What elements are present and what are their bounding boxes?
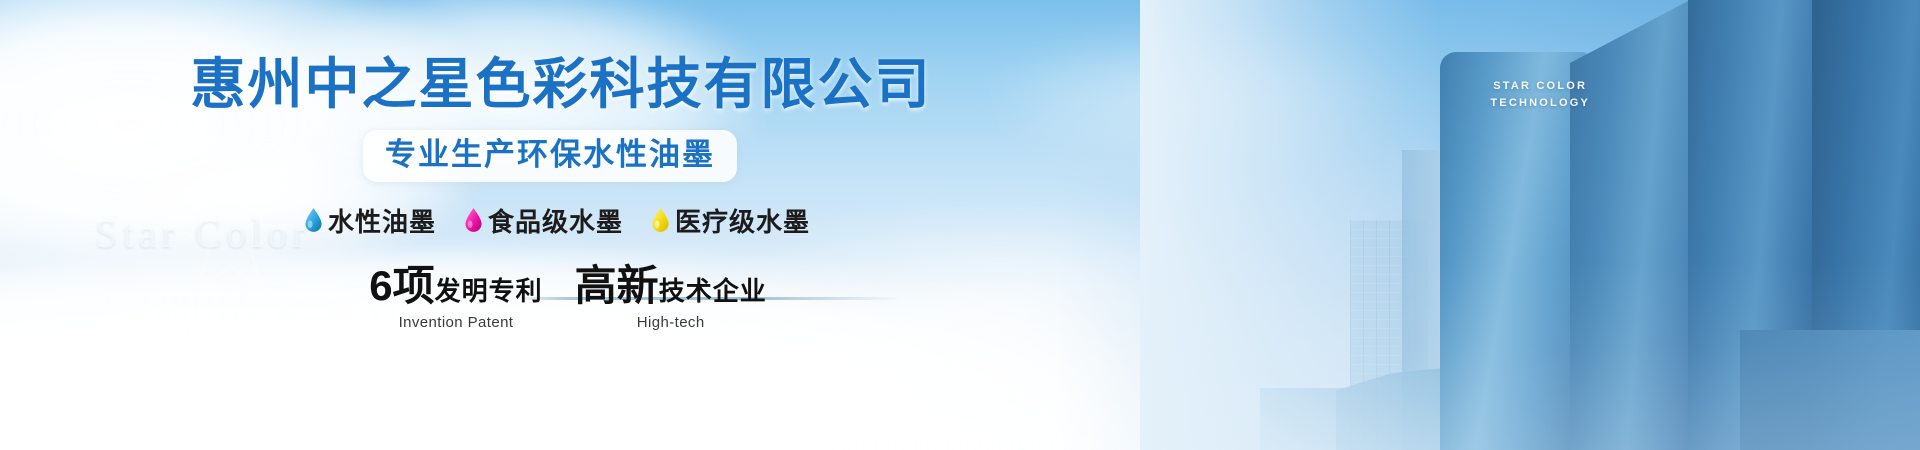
water-drop-icon bbox=[651, 207, 670, 233]
sky-caption-line-1: STAR COLOR bbox=[1490, 78, 1590, 95]
sky-brand-caption: STAR COLOR TECHNOLOGY bbox=[1490, 78, 1590, 112]
feature-label: 医疗级水墨 bbox=[675, 202, 810, 239]
water-drop-icon bbox=[464, 207, 483, 233]
badge-small-text: 技术企业 bbox=[659, 278, 767, 304]
badge-main-text: 高新 技术企业 bbox=[575, 265, 767, 307]
banner-content: 惠州中之星色彩科技有限公司 专业生产环保水性油墨 水性油墨 bbox=[0, 0, 1100, 450]
company-title: 惠州中之星色彩科技有限公司 bbox=[190, 56, 931, 114]
badge-small-text: 发明专利 bbox=[435, 278, 543, 304]
feature-label: 水性油墨 bbox=[328, 202, 436, 239]
feature-label: 食品级水墨 bbox=[488, 202, 623, 239]
feature-item-medical-grade-ink: 医疗级水墨 bbox=[651, 202, 810, 239]
badge-main-text: 6项 发明专利 bbox=[369, 265, 542, 307]
credential-badges: 6项 发明专利 Invention Patent 高新 技术企业 High-te… bbox=[18, 265, 1118, 331]
badge-high-tech: 高新 技术企业 High-tech bbox=[575, 265, 767, 331]
feature-item-food-grade-ink: 食品级水墨 bbox=[464, 202, 623, 239]
badge-english-text: High-tech bbox=[637, 314, 705, 331]
subtitle-text: 专业生产环保水性油墨 bbox=[385, 136, 715, 173]
badge-english-text: Invention Patent bbox=[399, 314, 514, 331]
subtitle-pill: 专业生产环保水性油墨 bbox=[363, 130, 737, 182]
promotional-banner: Star Color STAR COLOR TECHNOLOGY 惠州中之星色彩… bbox=[0, 0, 1920, 450]
feature-list: 水性油墨 食品级水墨 bbox=[304, 202, 810, 239]
water-drop-icon bbox=[304, 207, 323, 233]
sky-caption-line-2: TECHNOLOGY bbox=[1490, 95, 1590, 112]
feature-item-water-based-ink: 水性油墨 bbox=[304, 202, 436, 239]
badge-big-text: 6项 bbox=[369, 265, 434, 307]
badge-big-text: 高新 bbox=[575, 265, 659, 307]
badge-invention-patent: 6项 发明专利 Invention Patent bbox=[369, 265, 542, 331]
